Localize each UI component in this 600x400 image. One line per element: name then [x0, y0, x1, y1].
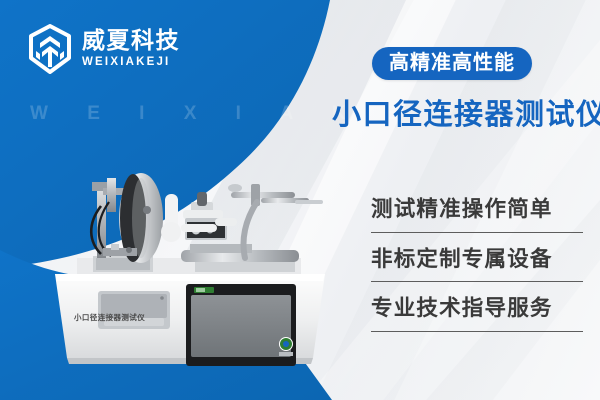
- feature-label: 专业技术指导服务: [371, 298, 583, 331]
- hexagon-shield-logo-icon: [27, 24, 73, 74]
- rotary-disc-icon: [91, 173, 163, 272]
- brand-name-cn: 威夏科技: [82, 29, 180, 52]
- swing-arm-icon: [228, 184, 323, 258]
- page-title: 小口径连接器测试仪: [332, 98, 600, 133]
- list-item: 专业技术指导服务: [371, 298, 583, 332]
- feature-label: 测试精准操作简单: [371, 199, 583, 232]
- certification-badge-icon: [279, 337, 293, 356]
- feature-list: 测试精准操作简单 非标定制专属设备 专业技术指导服务: [371, 199, 583, 348]
- list-item: 非标定制专属设备: [371, 249, 583, 283]
- promo-banner: W E I X I A K E 威夏科技 WEIXIAKEJI 高精准高性能 小…: [0, 0, 600, 400]
- brand-logo: 威夏科技 WEIXIAKEJI: [27, 24, 180, 74]
- product-image: [55, 158, 325, 373]
- list-item: 测试精准操作简单: [371, 199, 583, 233]
- product-panel-label: 小口径连接器测试仪: [74, 312, 145, 323]
- feature-divider: [371, 281, 583, 282]
- document-tray-icon: [98, 291, 170, 329]
- tagline-badge: 高精准高性能: [372, 47, 532, 80]
- brand-name-en: WEIXIAKEJI: [82, 57, 180, 69]
- feature-divider: [371, 331, 583, 332]
- feature-label: 非标定制专属设备: [371, 249, 583, 282]
- feature-divider: [371, 232, 583, 233]
